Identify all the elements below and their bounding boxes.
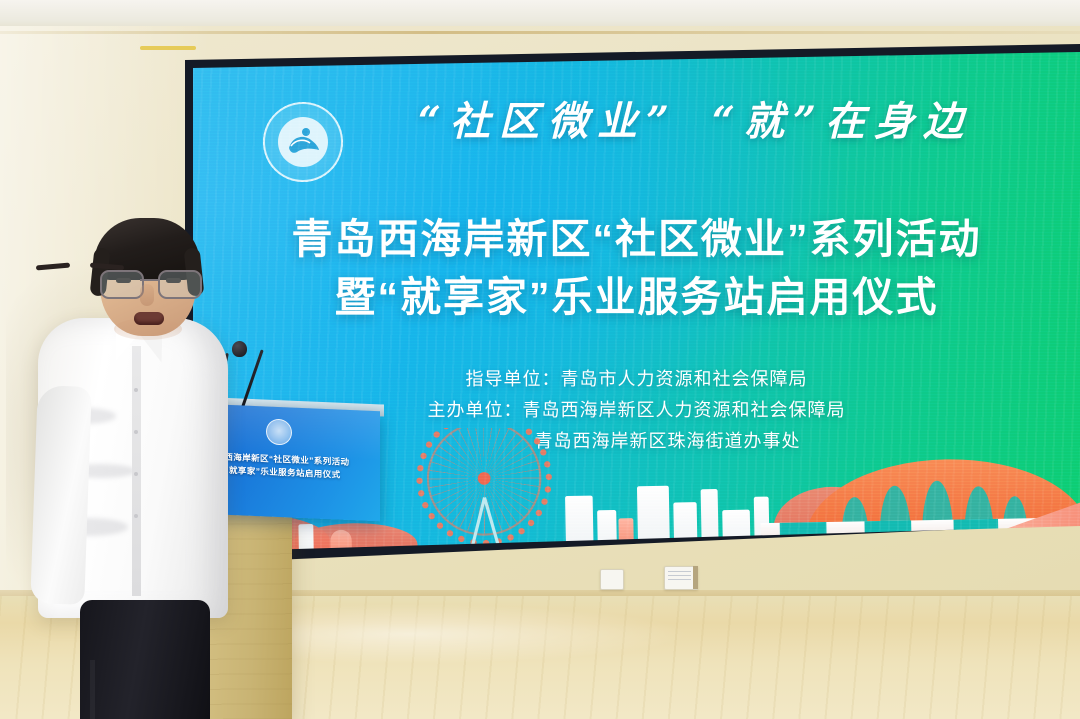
eyebrow: [36, 263, 70, 271]
shirt-button: [134, 388, 138, 392]
shirt-button: [134, 514, 138, 518]
ceiling-yellow-marking: [140, 46, 196, 50]
power-outlet: [600, 569, 624, 590]
shirt-placket: [132, 346, 141, 596]
trousers: [80, 600, 210, 719]
mouth: [134, 312, 164, 325]
eyeglass-lens: [158, 270, 202, 299]
event-photo-scene: “社区微业”“就”在身边 青岛西海岸新区“社区微业”系列活动 暨“就享家”乐业服…: [0, 0, 1080, 719]
eyeglass-bridge: [140, 279, 158, 281]
nose: [140, 284, 154, 306]
ceiling-wall-joint: [0, 31, 1080, 34]
left-arm: [30, 385, 92, 605]
speaker-person: [28, 218, 278, 719]
shirt-button: [134, 430, 138, 434]
switch-panel-lines: [668, 571, 691, 582]
trouser-crease: [90, 660, 95, 719]
shirt-button: [134, 472, 138, 476]
eyeglass-lens: [100, 270, 144, 299]
wall-switch-panel: [664, 566, 698, 590]
